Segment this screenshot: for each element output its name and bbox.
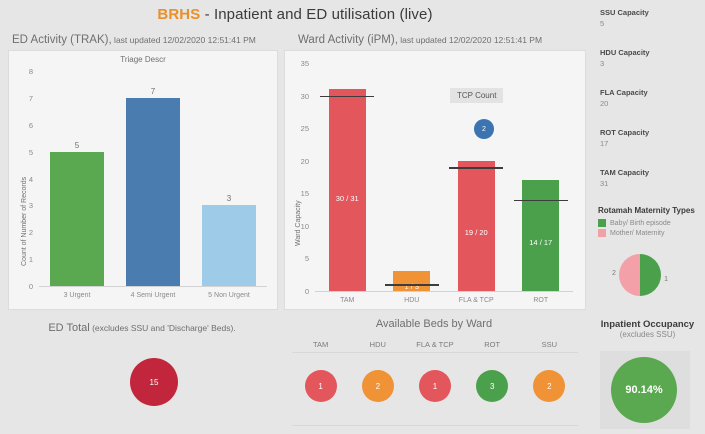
ed-chart-ylabel: Count of Number of Records: [21, 177, 28, 266]
available-beds-value-circle[interactable]: 1: [305, 370, 337, 402]
ward-chart-bar-label: 30 / 31: [329, 194, 366, 203]
tcp-count-badge[interactable]: 2: [474, 119, 494, 139]
occupancy-value-circle[interactable]: 90.14%: [611, 357, 677, 423]
ward-chart-bar-label: 19 / 20: [458, 228, 495, 237]
page-title-text: - Inpatient and ED utilisation (live): [200, 6, 432, 23]
ed-chart-bar[interactable]: 3: [202, 205, 257, 286]
maternity-pie-left-value: 2: [612, 270, 616, 277]
ed-chart-xtick: 4 Semi Urgent: [115, 292, 191, 299]
ward-chart-ytick: 15: [291, 189, 309, 198]
capacity-value: 31: [600, 179, 649, 188]
occupancy-panel[interactable]: 90.14%: [600, 351, 690, 429]
available-beds-ward-header: HDU: [349, 340, 406, 349]
maternity-legend-title: Rotamah Maternity Types: [598, 206, 702, 215]
available-beds-title: Available Beds by Ward: [284, 318, 584, 330]
ward-chart-xtick: HDU: [380, 297, 445, 304]
available-beds-ward-header: SSU: [521, 340, 578, 349]
available-beds-value-circle[interactable]: 3: [476, 370, 508, 402]
ed-chart-xtick: 3 Urgent: [39, 292, 115, 299]
ed-activity-timestamp: last updated 12/02/2020 12:51:41 PM: [112, 35, 256, 45]
maternity-legend-label: Mother/ Maternity: [610, 230, 664, 237]
dashboard-header: BRHS - Inpatient and ED utilisation (liv…: [0, 0, 590, 28]
ed-chart-ytick: 5: [15, 148, 33, 157]
ed-chart-plot-area: 573: [39, 71, 267, 286]
available-beds-footer-rule: [292, 425, 578, 426]
ed-chart-bar[interactable]: 7: [126, 98, 181, 286]
capacity-value: 3: [600, 59, 650, 68]
ed-total-title-sub: (excludes SSU and 'Discharge' Beds).: [90, 323, 236, 333]
ward-activity-timestamp: last updated 12/02/2020 12:51:41 PM: [398, 35, 542, 45]
capacity-item: HDU Capacity3: [600, 48, 650, 68]
occupancy-title: Inpatient Occupancy (excludes SSU): [590, 319, 705, 339]
ward-activity-chart-panel[interactable]: Ward Capacity 35302520151050 30 / 311 / …: [284, 50, 586, 310]
capacity-item: FLA Capacity20: [600, 88, 648, 108]
ed-chart-ytick: 2: [15, 228, 33, 237]
ed-chart-ytick: 4: [15, 175, 33, 184]
capacity-item: SSU Capacity5: [600, 8, 649, 28]
ward-chart-xtick: ROT: [509, 297, 574, 304]
ward-chart-bar-label: 14 / 17: [522, 238, 559, 247]
ward-chart-ytick: 0: [291, 287, 309, 296]
ward-chart-bar[interactable]: 30 / 31: [329, 89, 366, 291]
maternity-legend-label: Baby/ Birth episode: [610, 220, 671, 227]
ed-chart-title: Triage Descr: [9, 55, 277, 64]
maternity-pie-slice-mother: [619, 254, 640, 296]
legend-swatch-icon: [598, 219, 606, 227]
ed-activity-chart-panel[interactable]: Triage Descr Count of Number of Records …: [8, 50, 278, 310]
available-beds-value-circle[interactable]: 1: [419, 370, 451, 402]
page-title: BRHS - Inpatient and ED utilisation (liv…: [157, 6, 432, 23]
occupancy-title-main: Inpatient Occupancy: [590, 319, 705, 330]
maternity-legend-item[interactable]: Mother/ Maternity: [598, 229, 702, 237]
available-beds-value-circle[interactable]: 2: [362, 370, 394, 402]
ward-chart-ytick: 5: [291, 254, 309, 263]
ward-chart-ytick: 20: [291, 157, 309, 166]
ed-chart-ytick: 8: [15, 67, 33, 76]
ed-total-value-circle[interactable]: 15: [130, 358, 178, 406]
occupancy-title-sub: (excludes SSU): [590, 330, 705, 339]
ward-chart-xaxis-line: [315, 291, 573, 292]
ward-chart-reference-line: [514, 200, 568, 202]
maternity-legend: Rotamah Maternity Types Baby/ Birth epis…: [598, 206, 702, 239]
ed-chart-ytick: 6: [15, 121, 33, 130]
ward-chart-bar[interactable]: 14 / 17: [522, 180, 559, 291]
maternity-pie: [619, 254, 661, 296]
ed-chart-xaxis-line: [39, 286, 267, 287]
tcp-count-label: TCP Count: [450, 88, 503, 103]
ward-activity-subtitle: Ward Activity (iPM), last updated 12/02/…: [298, 34, 542, 46]
maternity-pie-right-value: 1: [664, 276, 668, 283]
ward-chart-reference-line: [320, 96, 374, 98]
capacity-label: ROT Capacity: [600, 128, 649, 137]
ed-chart-bar-value: 5: [50, 141, 105, 150]
ed-chart-bar-value: 7: [126, 87, 181, 96]
ward-chart-bar-label: 1 / 3: [393, 282, 430, 291]
ed-total-title: ED Total (excludes SSU and 'Discharge' B…: [0, 318, 284, 336]
capacity-item: ROT Capacity17: [600, 128, 649, 148]
capacity-item: TAM Capacity31: [600, 168, 649, 188]
ed-activity-subtitle: ED Activity (TRAK), last updated 12/02/2…: [12, 34, 256, 46]
ward-chart-ytick: 35: [291, 59, 309, 68]
available-beds-value-circle[interactable]: 2: [533, 370, 565, 402]
ward-chart-ytick: 10: [291, 222, 309, 231]
ward-chart-reference-line: [449, 167, 503, 169]
ed-total-title-main: ED Total: [48, 322, 89, 334]
ed-chart-ytick: 1: [15, 255, 33, 264]
available-beds-ward-header: TAM: [292, 340, 349, 349]
capacity-label: FLA Capacity: [600, 88, 648, 97]
maternity-pie-chart[interactable]: 2 1: [612, 252, 668, 298]
capacity-value: 20: [600, 99, 648, 108]
available-beds-ward-header: FLA & TCP: [406, 340, 463, 349]
ed-chart-xtick: 5 Non Urgent: [191, 292, 267, 299]
available-beds-header-rule: [292, 352, 578, 353]
dashboard: BRHS - Inpatient and ED utilisation (liv…: [0, 0, 705, 434]
ward-chart-reference-line: [385, 284, 439, 286]
ed-chart-ytick: 7: [15, 94, 33, 103]
ed-chart-bar-value: 3: [202, 194, 257, 203]
ward-chart-xtick: FLA & TCP: [444, 297, 509, 304]
legend-swatch-icon: [598, 229, 606, 237]
maternity-pie-slice-baby: [640, 254, 661, 296]
ward-activity-subtitle-main: Ward Activity (iPM),: [298, 34, 398, 46]
ed-chart-ytick: 0: [15, 282, 33, 291]
ed-activity-subtitle-main: ED Activity (TRAK),: [12, 34, 112, 46]
capacity-value: 5: [600, 19, 649, 28]
ed-chart-ytick: 3: [15, 201, 33, 210]
ward-chart-bar[interactable]: 19 / 20: [458, 161, 495, 291]
capacity-label: TAM Capacity: [600, 168, 649, 177]
capacity-label: SSU Capacity: [600, 8, 649, 17]
available-beds-ward-header: ROT: [464, 340, 521, 349]
brand-name: BRHS: [157, 6, 200, 23]
ed-chart-bar[interactable]: 5: [50, 152, 105, 286]
ward-chart-ytick: 30: [291, 92, 309, 101]
ward-chart-bar[interactable]: 1 / 3: [393, 271, 430, 291]
maternity-legend-items: Baby/ Birth episodeMother/ Maternity: [598, 219, 702, 237]
ward-chart-plot-area: 30 / 311 / 319 / 2014 / 17: [315, 63, 573, 291]
capacity-value: 17: [600, 139, 649, 148]
ward-chart-ytick: 25: [291, 124, 309, 133]
capacity-label: HDU Capacity: [600, 48, 650, 57]
maternity-legend-item[interactable]: Baby/ Birth episode: [598, 219, 702, 227]
ward-chart-xtick: TAM: [315, 297, 380, 304]
